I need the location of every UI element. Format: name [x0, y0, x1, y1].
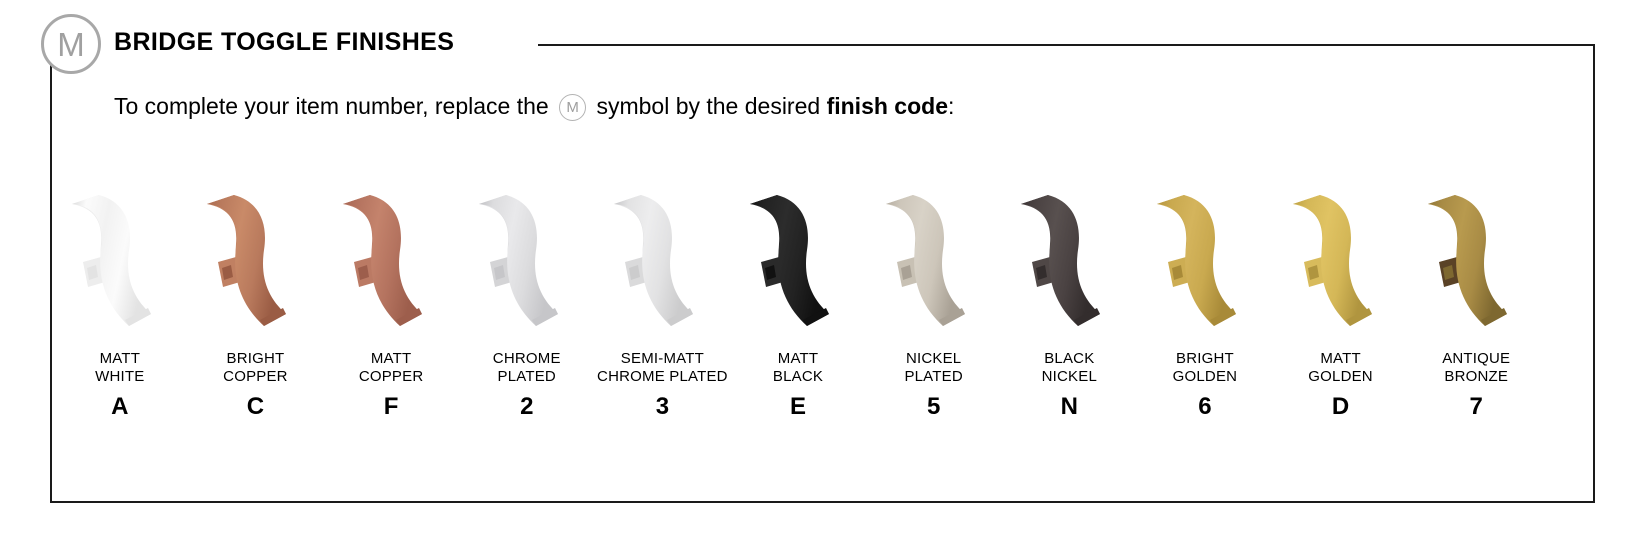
finish-swatch-image [326, 186, 456, 336]
header: M BRIDGE TOGGLE FINISHES [0, 0, 1648, 92]
toggle-body [207, 195, 286, 326]
finish-name-label: NICKEL PLATED [904, 350, 962, 386]
finish-code-label: N [1061, 395, 1078, 419]
toggle-body [1157, 195, 1236, 326]
m-symbol-inline-badge: M [559, 94, 586, 121]
toggle-body [750, 195, 829, 326]
finish-swatch-image [1411, 186, 1541, 336]
finish-swatch-image [1276, 186, 1406, 336]
finish-name-label: SEMI-MATT CHROME PLATED [597, 350, 728, 386]
finish-code-label: A [111, 395, 128, 419]
page-title: BRIDGE TOGGLE FINISHES [114, 28, 454, 57]
finish-option[interactable]: MATT BLACKE [730, 186, 866, 419]
finish-option[interactable]: BLACK NICKELN [1001, 186, 1137, 419]
finish-swatch-image [1004, 186, 1134, 336]
toggle-body [479, 195, 558, 326]
finish-option[interactable]: SEMI-MATT CHROME PLATED3 [595, 186, 731, 419]
instruction-emphasis: finish code [827, 92, 948, 122]
finish-swatch-image [462, 186, 592, 336]
finish-code-label: D [1332, 395, 1349, 419]
finish-code-label: E [790, 395, 806, 419]
m-symbol-badge: M [41, 14, 101, 74]
toggle-body [886, 195, 965, 326]
finish-swatch-image [597, 186, 727, 336]
toggle-body [72, 195, 151, 326]
finish-option[interactable]: CHROME PLATED2 [459, 186, 595, 419]
instruction-line: To complete your item number, replace th… [114, 92, 954, 122]
toggle-illustration [1004, 186, 1134, 336]
toggle-illustration [326, 186, 456, 336]
finish-swatch-row: MATT WHITEABRIGHT COPPERCMATT COPPERFCHR… [52, 186, 1544, 446]
toggle-illustration [55, 186, 185, 336]
finish-name-label: BLACK NICKEL [1042, 350, 1097, 386]
toggle-body [343, 195, 422, 326]
finish-name-label: MATT WHITE [95, 350, 144, 386]
m-symbol-inline-label: M [566, 98, 579, 118]
toggle-body [1021, 195, 1100, 326]
finish-name-label: MATT COPPER [359, 350, 424, 386]
toggle-illustration [869, 186, 999, 336]
finish-name-label: BRIGHT COPPER [223, 350, 288, 386]
finish-option[interactable]: MATT COPPERF [323, 186, 459, 419]
finish-code-label: 7 [1470, 395, 1483, 419]
toggle-body [614, 195, 693, 326]
toggle-illustration [1140, 186, 1270, 336]
m-symbol-badge-label: M [57, 28, 85, 61]
instruction-part-2: symbol by the desired [590, 92, 827, 122]
finish-code-label: 2 [520, 395, 533, 419]
finish-code-label: 6 [1198, 395, 1211, 419]
finish-code-label: C [247, 395, 264, 419]
finish-name-label: MATT BLACK [773, 350, 823, 386]
finish-code-label: 3 [656, 395, 669, 419]
toggle-illustration [733, 186, 863, 336]
toggle-illustration [597, 186, 727, 336]
header-divider-rule [538, 44, 1595, 46]
toggle-illustration [190, 186, 320, 336]
finish-swatch-image [1140, 186, 1270, 336]
finish-option[interactable]: MATT GOLDEND [1273, 186, 1409, 419]
toggle-illustration [1411, 186, 1541, 336]
instruction-part-3: : [948, 92, 954, 122]
finish-option[interactable]: BRIGHT COPPERC [188, 186, 324, 419]
finish-name-label: MATT GOLDEN [1308, 350, 1373, 386]
finish-option[interactable]: ANTIQUE BRONZE7 [1408, 186, 1544, 419]
finish-option[interactable]: NICKEL PLATED5 [866, 186, 1002, 419]
finish-option[interactable]: BRIGHT GOLDEN6 [1137, 186, 1273, 419]
finish-option[interactable]: MATT WHITEA [52, 186, 188, 419]
finish-chart-sheet: M BRIDGE TOGGLE FINISHES To complete you… [0, 0, 1648, 546]
finish-name-label: BRIGHT GOLDEN [1173, 350, 1238, 386]
toggle-illustration [462, 186, 592, 336]
toggle-body [1293, 195, 1372, 326]
finish-swatch-image [190, 186, 320, 336]
toggle-illustration [1276, 186, 1406, 336]
finish-code-label: 5 [927, 395, 940, 419]
finish-name-label: ANTIQUE BRONZE [1442, 350, 1510, 386]
finish-code-label: F [384, 395, 399, 419]
finish-swatch-image [55, 186, 185, 336]
toggle-body [1428, 195, 1507, 326]
instruction-part-1: To complete your item number, replace th… [114, 92, 555, 122]
finish-swatch-image [733, 186, 863, 336]
finish-name-label: CHROME PLATED [493, 350, 561, 386]
finish-swatch-image [869, 186, 999, 336]
